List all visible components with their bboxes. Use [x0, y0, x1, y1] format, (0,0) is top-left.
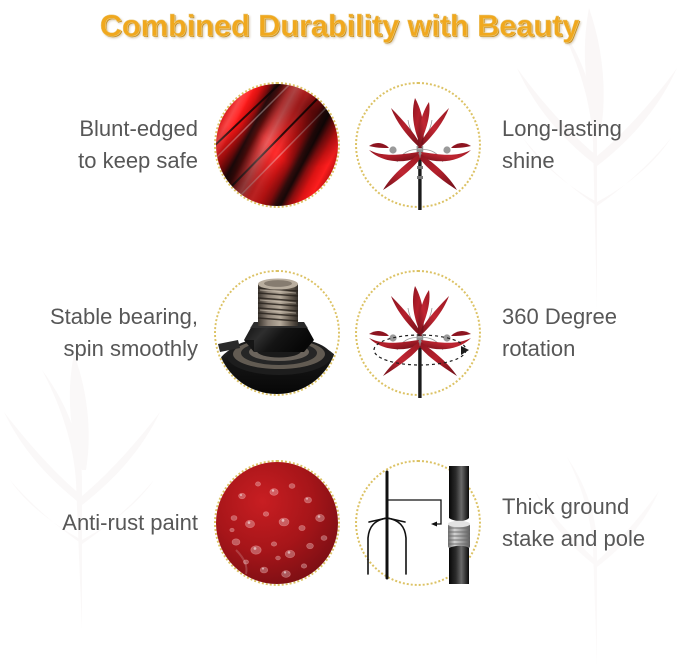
- feature-row-3: Anti-rust paint: [0, 430, 679, 615]
- red-metal-leaf-spinner: [357, 84, 479, 206]
- feature-2-left-image-slot: [206, 240, 347, 425]
- feature-1-left-label: Blunt-edged to keep safe: [0, 113, 206, 175]
- feature-3-left-label-line1: Anti-rust paint: [0, 507, 198, 538]
- feature-1-right-label-line1: Long-lasting: [502, 113, 679, 144]
- feature-2-right-label-line1: 360 Degree: [502, 301, 679, 332]
- feature-1-left-label-line2: to keep safe: [0, 145, 198, 176]
- spinner-circle-rotation: [355, 270, 481, 396]
- feature-2-right-label: 360 Degree rotation: [488, 301, 679, 363]
- title-bar: Combined Durability with Beauty: [0, 0, 679, 52]
- water-bead-paint-circle: [214, 460, 340, 586]
- page-title: Combined Durability with Beauty: [100, 8, 580, 44]
- feature-1-right-image-slot: [347, 52, 488, 237]
- ground-stake-and-pole-photo: [357, 462, 479, 584]
- spinner-with-rotation-arrow: [357, 272, 479, 394]
- gloss-shadow: [216, 84, 338, 206]
- red-glossy-blade-circle: [214, 82, 340, 208]
- feature-2-left-label-line2: spin smoothly: [0, 333, 198, 364]
- stake-and-pole-circle: [355, 460, 481, 586]
- feature-row-1: Blunt-edged to keep safe: [0, 52, 679, 237]
- bearing-bolt-circle: [214, 270, 340, 396]
- feature-3-right-label: Thick ground stake and pole: [488, 491, 679, 553]
- feature-1-right-label: Long-lasting shine: [488, 113, 679, 175]
- spinner-circle-shine: [355, 82, 481, 208]
- water-droplets: [216, 462, 338, 584]
- feature-2-right-image-slot: [347, 240, 488, 425]
- feature-1-left-label-line1: Blunt-edged: [0, 113, 198, 144]
- red-glossy-blade-photo: [216, 84, 338, 206]
- feature-row-2: Stable bearing, spin smoothly: [0, 240, 679, 425]
- feature-3-right-label-line2: stake and pole: [502, 523, 679, 554]
- feature-rows: Blunt-edged to keep safe: [0, 52, 679, 607]
- feature-3-left-label: Anti-rust paint: [0, 507, 206, 538]
- feature-2-right-label-line2: rotation: [502, 333, 679, 364]
- red-paint-water-beads-photo: [216, 462, 338, 584]
- feature-3-right-label-line1: Thick ground: [502, 491, 679, 522]
- feature-3-left-image-slot: [206, 430, 347, 615]
- feature-2-left-label-line1: Stable bearing,: [0, 301, 198, 332]
- hex-bolt-bearing-photo: [216, 272, 338, 394]
- feature-1-left-image-slot: [206, 52, 347, 237]
- feature-2-left-label: Stable bearing, spin smoothly: [0, 301, 206, 363]
- feature-3-right-image-slot: [347, 430, 488, 615]
- feature-1-right-label-line2: shine: [502, 145, 679, 176]
